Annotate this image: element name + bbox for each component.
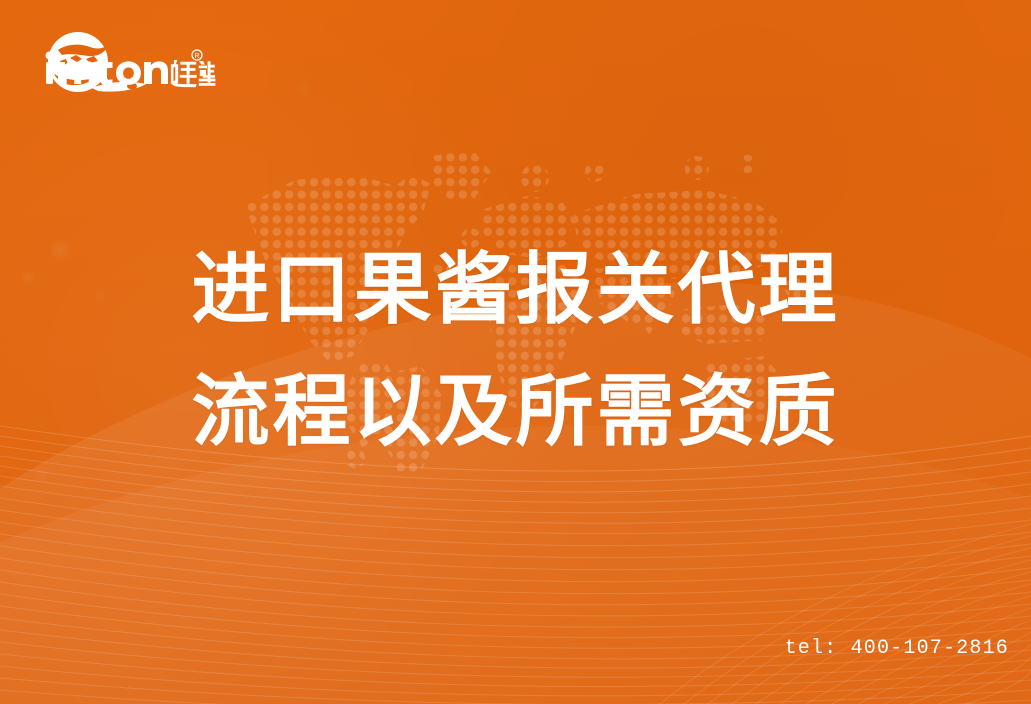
light-blob [128, 492, 135, 499]
wordmark-chinese [171, 60, 216, 87]
page-title: 进口果酱报关代理 流程以及所需资质 [0, 228, 1031, 472]
light-blob [300, 86, 308, 94]
title-line-2: 流程以及所需资质 [0, 350, 1031, 472]
svg-text:R: R [194, 53, 199, 60]
promo-banner: R 进口果酱报关代理 流程以及所需资质 tel: 400-107-2816 [0, 0, 1031, 704]
title-line-1: 进口果酱报关代理 [0, 228, 1031, 350]
contact-phone: tel: 400-107-2816 [785, 637, 1009, 660]
trademark-icon: R [192, 50, 202, 60]
brand-logo[interactable]: R [36, 28, 222, 100]
